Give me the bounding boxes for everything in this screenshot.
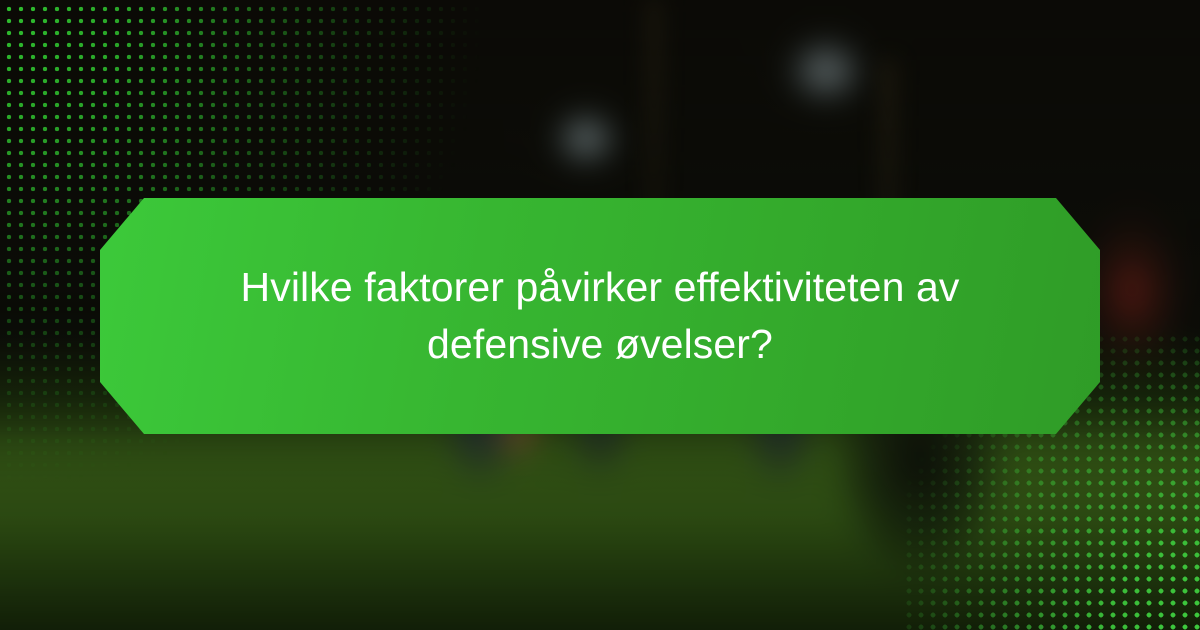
social-share-card: Hvilke faktorer påvirker effektiviteten … [0,0,1200,630]
headline-banner: Hvilke faktorer påvirker effektiviteten … [100,198,1100,434]
page-title: Hvilke faktorer påvirker effektiviteten … [170,259,1030,372]
